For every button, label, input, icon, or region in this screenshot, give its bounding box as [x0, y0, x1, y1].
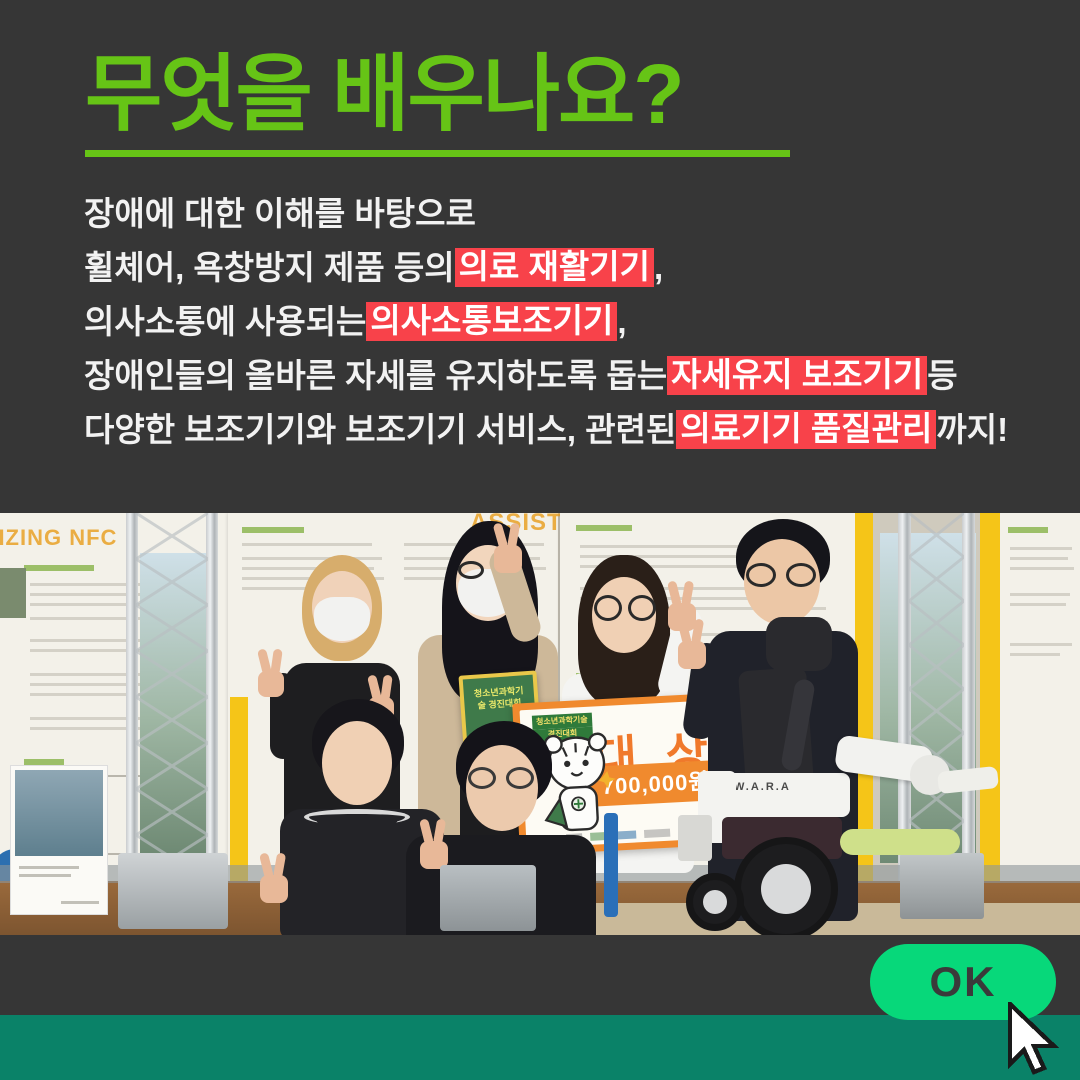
- chair-seat: [720, 773, 850, 817]
- stanchion: [604, 813, 618, 917]
- robot-gripper: [937, 766, 999, 794]
- banner-logo: [840, 829, 960, 855]
- wara-label: W.A.R.A: [734, 781, 791, 793]
- highlighted-term: 의료기기 품질관리: [676, 410, 936, 449]
- body-line: 장애에 대한 이해를 바탕으로: [84, 186, 1024, 240]
- highlighted-term: 의료 재활기기: [455, 248, 654, 287]
- bottom-bar: [0, 1015, 1080, 1080]
- arrow-cursor-icon: [1006, 1002, 1068, 1080]
- page-title: 무엇을 배우나요?: [85, 52, 805, 136]
- highlighted-term: 의사소통보조기기: [366, 302, 617, 341]
- body-text: 다양한 보조기기와 보조기기 서비스, 관련된: [84, 413, 676, 446]
- mech-exhibit-2: [440, 865, 536, 931]
- wheelchair: W.A.R.A: [700, 623, 1040, 935]
- group-photo: LIZING NFC ASSISTANCE ROBOT ARM): [0, 513, 1080, 935]
- body-text: ,: [654, 251, 663, 284]
- body-text: ,: [617, 305, 626, 338]
- title-block: 무엇을 배우나요?: [85, 52, 805, 136]
- body-line: 의사소통에 사용되는 의사소통보조기기,: [84, 294, 1024, 348]
- chair-headrest: [766, 617, 832, 671]
- body-text: 의사소통에 사용되는: [84, 305, 366, 338]
- body-line: 다양한 보조기기와 보조기기 서비스, 관련된 의료기기 품질관리까지!: [84, 402, 1024, 456]
- body-text: 장애인들의 올바른 자세를 유지하도록 돕는: [84, 359, 667, 392]
- body-text: 장애에 대한 이해를 바탕으로: [84, 197, 476, 230]
- title-underline: [85, 150, 790, 157]
- body-text: 휠체어, 욕창방지 제품 등의: [84, 251, 455, 284]
- body-text: 까지!: [936, 413, 1008, 446]
- chair-front-wheel: [686, 873, 744, 931]
- poster-left-title: LIZING NFC: [0, 525, 117, 551]
- highlighted-term: 자세유지 보조기기: [667, 356, 927, 395]
- body-copy: 장애에 대한 이해를 바탕으로휠체어, 욕창방지 제품 등의 의료 재활기기,의…: [84, 186, 1024, 456]
- mech-exhibit: [118, 853, 228, 929]
- ok-button-label: OK: [930, 958, 997, 1006]
- body-text: 등: [927, 359, 957, 392]
- chair-controller: [678, 815, 712, 861]
- body-line: 휠체어, 욕창방지 제품 등의 의료 재활기기,: [84, 240, 1024, 294]
- exhibit-board: [10, 765, 108, 915]
- chair-rear-wheel: [734, 837, 838, 935]
- body-line: 장애인들의 올바른 자세를 유지하도록 돕는 자세유지 보조기기 등: [84, 348, 1024, 402]
